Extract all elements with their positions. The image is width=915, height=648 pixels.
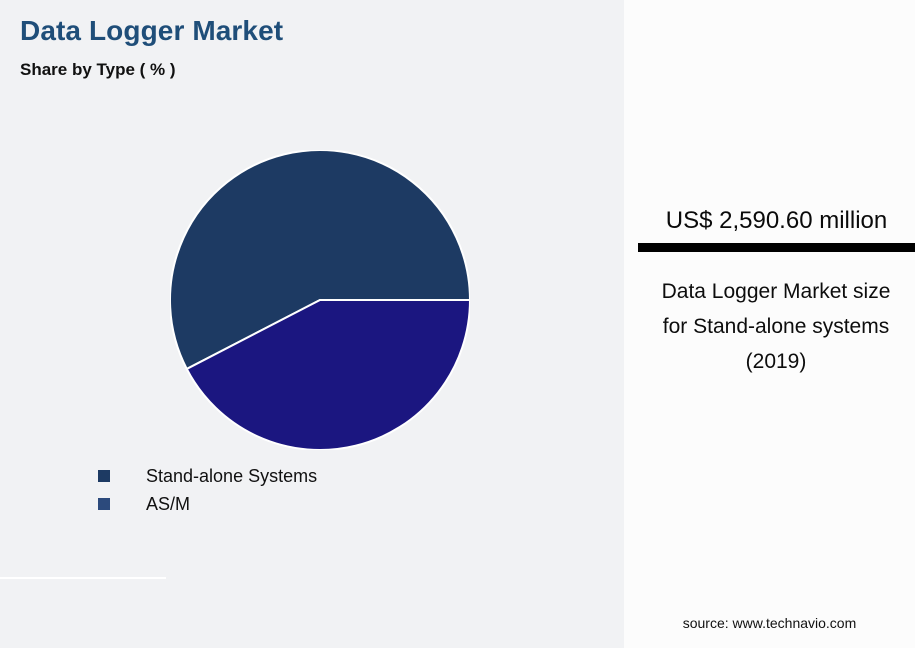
legend-item-as-m[interactable]: AS/M — [98, 490, 518, 518]
kpi-underline — [638, 243, 915, 252]
square-icon — [98, 498, 110, 510]
kpi-block: US$ 2,590.60 million — [638, 206, 915, 252]
footer-divider — [0, 577, 166, 579]
chart-subtitle: Share by Type ( % ) — [20, 60, 176, 80]
kpi-value: US$ 2,590.60 million — [638, 206, 915, 236]
pie-chart — [170, 150, 470, 450]
chart-legend: Stand-alone Systems AS/M — [98, 462, 518, 518]
pie-chart-svg — [170, 150, 470, 450]
legend-item-label: AS/M — [146, 494, 190, 515]
page-title: Data Logger Market — [20, 15, 283, 47]
chart-panel: Data Logger Market Share by Type ( % ) S… — [0, 0, 624, 648]
legend-item-stand-alone-systems[interactable]: Stand-alone Systems — [98, 462, 518, 490]
kpi-panel: US$ 2,590.60 million Data Logger Market … — [624, 0, 915, 648]
kpi-caption: Data Logger Market size for Stand-alone … — [652, 274, 900, 379]
legend-item-label: Stand-alone Systems — [146, 466, 317, 487]
source-note: source: www.technavio.com — [624, 615, 915, 631]
infographic-page: Data Logger Market Share by Type ( % ) S… — [0, 0, 915, 648]
square-icon — [98, 470, 110, 482]
